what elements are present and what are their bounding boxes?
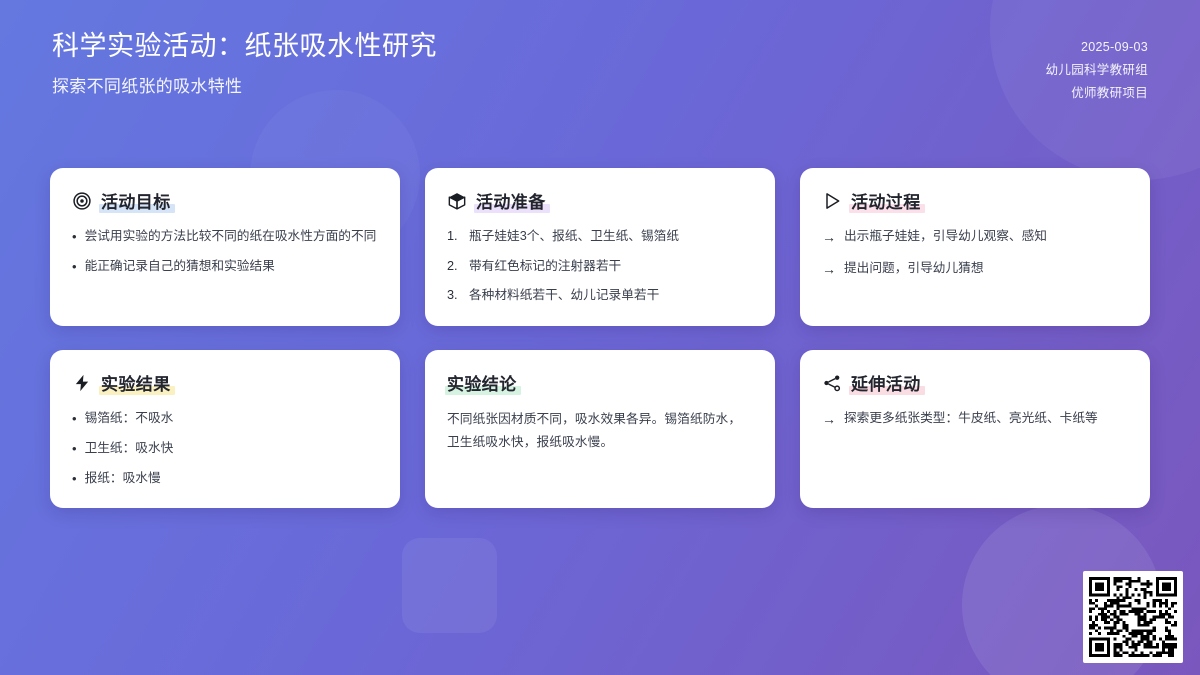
meta-organization: 幼儿园科学教研组 bbox=[1046, 59, 1148, 82]
arrow-marker: → bbox=[822, 408, 836, 431]
page-title: 科学实验活动：纸张吸水性研究 bbox=[52, 28, 437, 64]
list-item-text: 能正确记录自己的猜想和实验结果 bbox=[85, 256, 378, 277]
extension-list: →探索更多纸张类型：牛皮纸、亮光纸、卡纸等 bbox=[822, 408, 1128, 431]
header-left: 科学实验活动：纸张吸水性研究 探索不同纸张的吸水特性 bbox=[52, 28, 437, 97]
header-meta: 2025-09-03 幼儿园科学教研组 优师教研项目 bbox=[1046, 28, 1148, 105]
list-item-text: 瓶子娃娃3个、报纸、卫生纸、锡箔纸 bbox=[469, 226, 753, 247]
list-item: 1.瓶子娃娃3个、报纸、卫生纸、锡箔纸 bbox=[447, 226, 753, 247]
card-title-wrap: 活动目标 bbox=[101, 188, 171, 213]
bullet-marker: • bbox=[72, 408, 77, 429]
card-title: 实验结论 bbox=[447, 375, 517, 394]
number-marker: 1. bbox=[447, 226, 461, 247]
card-process: 活动过程 →出示瓶子娃娃，引导幼儿观察、感知 →提出问题，引导幼儿猜想 bbox=[800, 168, 1150, 326]
list-item-text: 出示瓶子娃娃，引导幼儿观察、感知 bbox=[844, 226, 1128, 247]
list-item: →出示瓶子娃娃，引导幼儿观察、感知 bbox=[822, 226, 1128, 249]
results-list: •锡箔纸：不吸水 •卫生纸：吸水快 •报纸：吸水慢 bbox=[72, 408, 378, 489]
card-header: 延伸活动 bbox=[822, 370, 1128, 395]
list-item: •能正确记录自己的猜想和实验结果 bbox=[72, 256, 378, 277]
list-item: →探索更多纸张类型：牛皮纸、亮光纸、卡纸等 bbox=[822, 408, 1128, 431]
list-item-text: 提出问题，引导幼儿猜想 bbox=[844, 258, 1128, 279]
conclusion-paragraph: 不同纸张因材质不同，吸水效果各异。锡箔纸防水，卫生纸吸水快，报纸吸水慢。 bbox=[447, 408, 753, 453]
bullet-marker: • bbox=[72, 226, 77, 247]
package-icon bbox=[447, 191, 467, 211]
card-results: 实验结果 •锡箔纸：不吸水 •卫生纸：吸水快 •报纸：吸水慢 bbox=[50, 350, 400, 508]
play-icon bbox=[822, 191, 842, 211]
arrow-marker: → bbox=[822, 258, 836, 281]
list-item-text: 报纸：吸水慢 bbox=[85, 468, 378, 489]
card-title: 活动目标 bbox=[101, 193, 171, 212]
number-marker: 3. bbox=[447, 285, 461, 306]
lightning-icon bbox=[72, 373, 92, 393]
list-item-text: 探索更多纸张类型：牛皮纸、亮光纸、卡纸等 bbox=[844, 408, 1128, 429]
list-item: •锡箔纸：不吸水 bbox=[72, 408, 378, 429]
card-title: 实验结果 bbox=[101, 375, 171, 394]
target-icon bbox=[72, 191, 92, 211]
list-item-text: 尝试用实验的方法比较不同的纸在吸水性方面的不同 bbox=[85, 226, 378, 247]
decor-rounded-square bbox=[402, 538, 497, 633]
qr-code[interactable] bbox=[1089, 577, 1177, 657]
bullet-marker: • bbox=[72, 256, 77, 277]
card-title: 活动过程 bbox=[851, 193, 921, 212]
slide-header: 科学实验活动：纸张吸水性研究 探索不同纸张的吸水特性 2025-09-03 幼儿… bbox=[0, 0, 1200, 150]
card-header: 活动过程 bbox=[822, 188, 1128, 213]
card-title: 延伸活动 bbox=[851, 375, 921, 394]
list-item-text: 卫生纸：吸水快 bbox=[85, 438, 378, 459]
list-item: 2.带有红色标记的注射器若干 bbox=[447, 256, 753, 277]
bullet-marker: • bbox=[72, 438, 77, 459]
number-marker: 2. bbox=[447, 256, 461, 277]
card-extension: 延伸活动 →探索更多纸张类型：牛皮纸、亮光纸、卡纸等 bbox=[800, 350, 1150, 508]
card-title-wrap: 延伸活动 bbox=[851, 370, 921, 395]
page-subtitle: 探索不同纸张的吸水特性 bbox=[52, 72, 437, 97]
arrow-marker: → bbox=[822, 226, 836, 249]
card-title-wrap: 活动准备 bbox=[476, 188, 546, 213]
card-header: 实验结论 bbox=[447, 370, 753, 395]
card-conclusion: 实验结论 不同纸张因材质不同，吸水效果各异。锡箔纸防水，卫生纸吸水快，报纸吸水慢… bbox=[425, 350, 775, 508]
list-item: →提出问题，引导幼儿猜想 bbox=[822, 258, 1128, 281]
meta-project: 优师教研项目 bbox=[1046, 82, 1148, 105]
list-item: •尝试用实验的方法比较不同的纸在吸水性方面的不同 bbox=[72, 226, 378, 247]
content-grid: 活动目标 •尝试用实验的方法比较不同的纸在吸水性方面的不同 •能正确记录自己的猜… bbox=[50, 168, 1150, 508]
preparation-list: 1.瓶子娃娃3个、报纸、卫生纸、锡箔纸 2.带有红色标记的注射器若干 3.各种材… bbox=[447, 226, 753, 306]
card-objectives: 活动目标 •尝试用实验的方法比较不同的纸在吸水性方面的不同 •能正确记录自己的猜… bbox=[50, 168, 400, 326]
list-item: •卫生纸：吸水快 bbox=[72, 438, 378, 459]
card-title-wrap: 活动过程 bbox=[851, 188, 921, 213]
objectives-list: •尝试用实验的方法比较不同的纸在吸水性方面的不同 •能正确记录自己的猜想和实验结… bbox=[72, 226, 378, 277]
card-header: 实验结果 bbox=[72, 370, 378, 395]
list-item: 3.各种材料纸若干、幼儿记录单若干 bbox=[447, 285, 753, 306]
qr-code-frame[interactable] bbox=[1083, 571, 1183, 663]
card-title: 活动准备 bbox=[476, 193, 546, 212]
list-item-text: 锡箔纸：不吸水 bbox=[85, 408, 378, 429]
bullet-marker: • bbox=[72, 468, 77, 489]
list-item-text: 带有红色标记的注射器若干 bbox=[469, 256, 753, 277]
card-title-wrap: 实验结论 bbox=[447, 370, 517, 395]
process-list: →出示瓶子娃娃，引导幼儿观察、感知 →提出问题，引导幼儿猜想 bbox=[822, 226, 1128, 280]
list-item-text: 各种材料纸若干、幼儿记录单若干 bbox=[469, 285, 753, 306]
card-preparation: 活动准备 1.瓶子娃娃3个、报纸、卫生纸、锡箔纸 2.带有红色标记的注射器若干 … bbox=[425, 168, 775, 326]
card-header: 活动准备 bbox=[447, 188, 753, 213]
share-icon bbox=[822, 373, 842, 393]
list-item: •报纸：吸水慢 bbox=[72, 468, 378, 489]
card-title-wrap: 实验结果 bbox=[101, 370, 171, 395]
card-header: 活动目标 bbox=[72, 188, 378, 213]
meta-date: 2025-09-03 bbox=[1046, 36, 1148, 59]
